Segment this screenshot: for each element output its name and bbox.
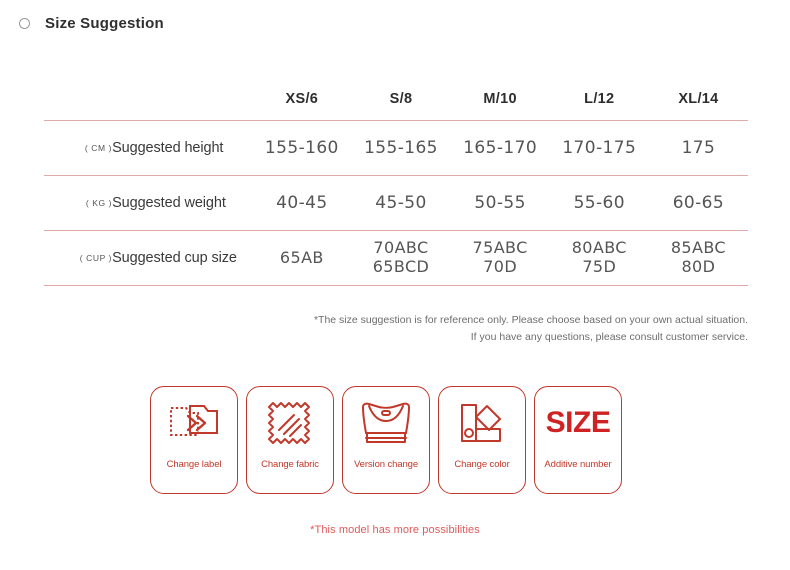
cell-value: 85ABC 80D xyxy=(649,231,748,286)
feature-card-change-fabric[interactable]: Change fabric xyxy=(246,386,334,494)
row-label: Suggested weight xyxy=(112,176,252,231)
row-label: Suggested cup size xyxy=(112,231,252,286)
table-row: ( CM ) Suggested height 155-160 155-165 … xyxy=(44,121,748,176)
row-unit: ( KG ) xyxy=(44,176,112,231)
cell-value: 80ABC 75D xyxy=(550,231,649,286)
disclaimer-line-1: *The size suggestion is for reference on… xyxy=(278,312,748,329)
column-header-l: L/12 xyxy=(550,78,649,121)
table-row: ( CUP ) Suggested cup size 65AB 70ABC 65… xyxy=(44,231,748,286)
cell-value: 155-160 xyxy=(252,121,351,176)
cell-value: 70ABC 65BCD xyxy=(351,231,450,286)
feature-card-label: Change fabric xyxy=(261,459,319,470)
fabric-swatch-icon xyxy=(247,387,333,459)
table-header-row: XS/6 S/8 M/10 L/12 XL/14 xyxy=(44,78,748,121)
column-header-s: S/8 xyxy=(351,78,450,121)
feature-card-change-color[interactable]: Change color xyxy=(438,386,526,494)
feature-card-additive-number[interactable]: SIZE Additive number xyxy=(534,386,622,494)
feature-card-change-label[interactable]: Change label xyxy=(150,386,238,494)
feature-card-label: Change color xyxy=(454,459,509,470)
label-tag-icon xyxy=(151,387,237,459)
cell-value: 170-175 xyxy=(550,121,649,176)
header-spacer-label xyxy=(112,78,252,121)
feature-card-label: Additive number xyxy=(544,459,611,470)
column-header-m: M/10 xyxy=(451,78,550,121)
page-header: Size Suggestion xyxy=(0,8,164,38)
cell-value: 55-60 xyxy=(550,176,649,231)
page-title: Size Suggestion xyxy=(45,15,164,32)
disclaimer: *The size suggestion is for reference on… xyxy=(278,312,748,347)
cell-value: 40-45 xyxy=(252,176,351,231)
column-header-xl: XL/14 xyxy=(649,78,748,121)
size-suggestion-table: XS/6 S/8 M/10 L/12 XL/14 ( CM ) Suggeste… xyxy=(44,78,748,286)
cell-value: 165-170 xyxy=(451,121,550,176)
feature-card-label: Version change xyxy=(354,459,418,470)
sports-bra-icon xyxy=(343,387,429,459)
circle-outline-icon xyxy=(19,18,30,29)
feature-card-version-change[interactable]: Version change xyxy=(342,386,430,494)
footnote: *This model has more possibilities xyxy=(0,524,790,536)
cell-value: 65AB xyxy=(252,231,351,286)
color-swatch-icon xyxy=(439,387,525,459)
header-spacer-unit xyxy=(44,78,112,121)
table-bottom-divider xyxy=(44,286,748,287)
cell-value: 60-65 xyxy=(649,176,748,231)
size-text-icon: SIZE xyxy=(535,387,621,459)
feature-card-list: Change label Change fabric xyxy=(150,386,622,494)
cell-value: 175 xyxy=(649,121,748,176)
row-unit: ( CUP ) xyxy=(44,231,112,286)
size-word-text: SIZE xyxy=(546,387,611,459)
feature-card-label: Change label xyxy=(167,459,222,470)
disclaimer-line-2: If you have any questions, please consul… xyxy=(278,329,748,346)
cell-value: 75ABC 70D xyxy=(451,231,550,286)
cell-value: 45-50 xyxy=(351,176,450,231)
row-unit: ( CM ) xyxy=(44,121,112,176)
row-label: Suggested height xyxy=(112,121,252,176)
column-header-xs: XS/6 xyxy=(252,78,351,121)
table-row: ( KG ) Suggested weight 40-45 45-50 50-5… xyxy=(44,176,748,231)
cell-value: 155-165 xyxy=(351,121,450,176)
cell-value: 50-55 xyxy=(451,176,550,231)
